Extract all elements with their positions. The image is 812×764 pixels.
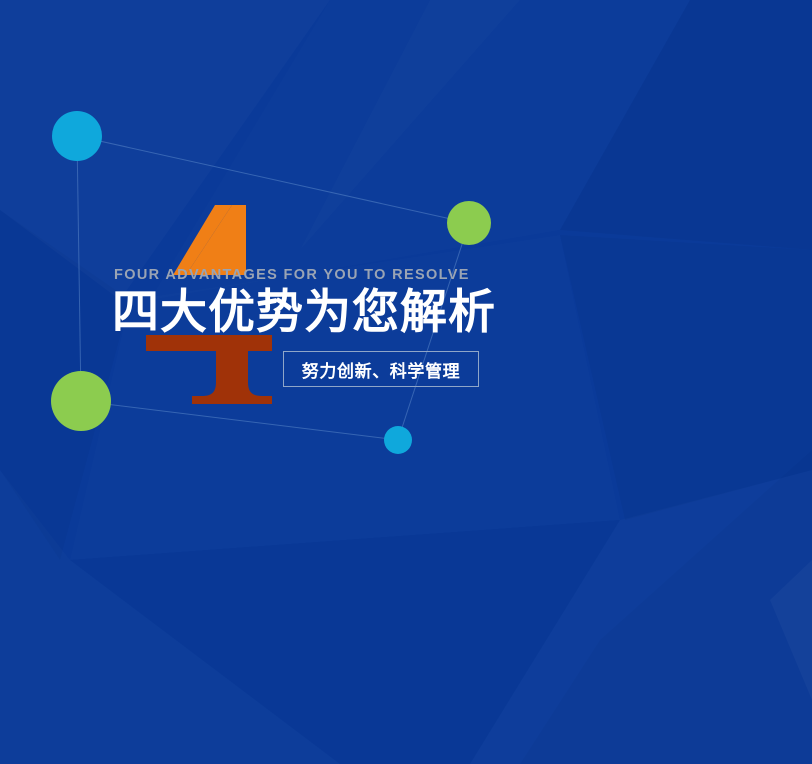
- numeral-top-orange: [173, 205, 246, 275]
- tagline-text: 努力创新、科学管理: [302, 357, 460, 382]
- headline-block: FOUR ADVANTAGES FOR YOU TO RESOLVE 四大优势为…: [112, 268, 712, 336]
- tagline-box: 努力创新、科学管理: [283, 351, 479, 387]
- banner-canvas: FOUR ADVANTAGES FOR YOU TO RESOLVE 四大优势为…: [0, 0, 812, 764]
- eyebrow-text: FOUR ADVANTAGES FOR YOU TO RESOLVE: [114, 268, 712, 283]
- page-title: 四大优势为您解析: [112, 289, 712, 337]
- numeral-bottom-red: [146, 335, 272, 404]
